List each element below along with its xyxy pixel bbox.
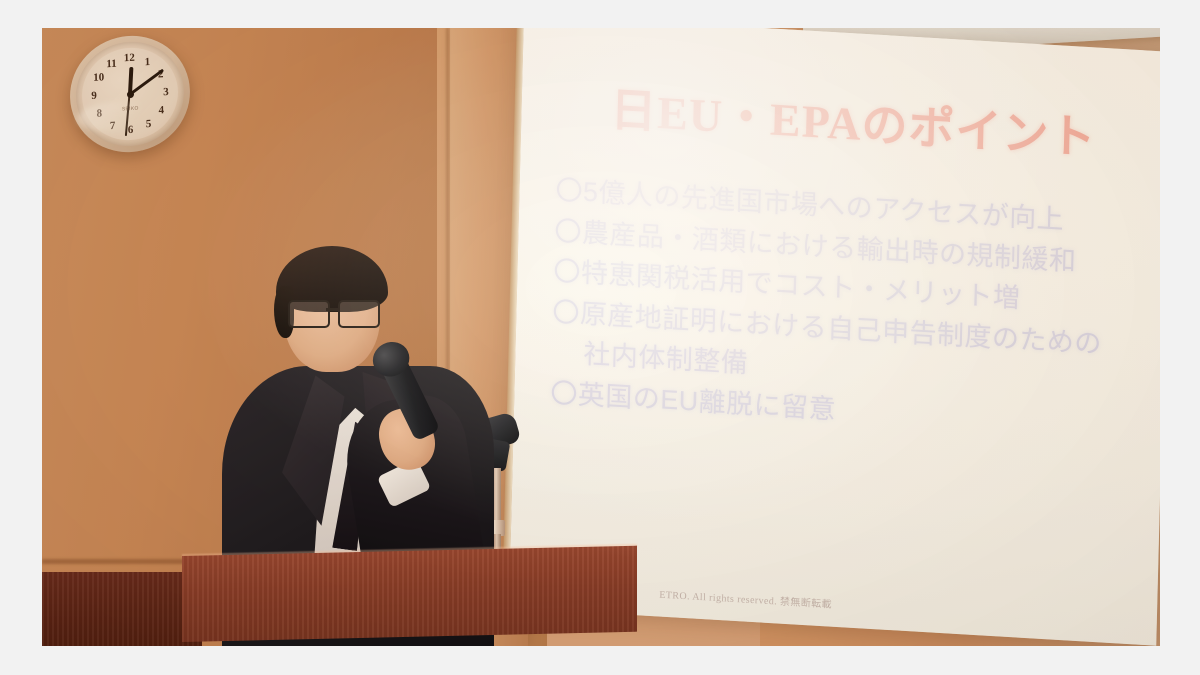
podium-front-panel: [182, 546, 637, 642]
slide-bullet-list: 〇5億人の先進国市場へのアクセスが向上 〇農産品・酒類における輸出時の規制緩和 …: [550, 170, 1147, 448]
eyeglass-lens-left: [288, 300, 330, 328]
image-frame: 12 1 2 3 4 5 6 7 8 9 10 11 SEIKO: [0, 0, 1200, 675]
photograph: 12 1 2 3 4 5 6 7 8 9 10 11 SEIKO: [42, 28, 1160, 646]
wooden-podium: [42, 550, 637, 646]
eyeglass-bridge: [326, 308, 338, 311]
wood-grain-texture: [42, 572, 202, 646]
wood-grain-texture: [182, 546, 637, 642]
clock-minute-hand: [129, 69, 163, 96]
eyeglasses: [288, 300, 382, 326]
podium-side-panel: [42, 572, 202, 646]
eyeglass-lens-right: [338, 300, 380, 328]
slide-title: 日EU・EPAのポイント: [557, 70, 1150, 171]
clock-center-pin: [126, 90, 133, 97]
slide-copyright-footer: ETRO. All rights reserved. 禁無断転載: [659, 586, 832, 611]
